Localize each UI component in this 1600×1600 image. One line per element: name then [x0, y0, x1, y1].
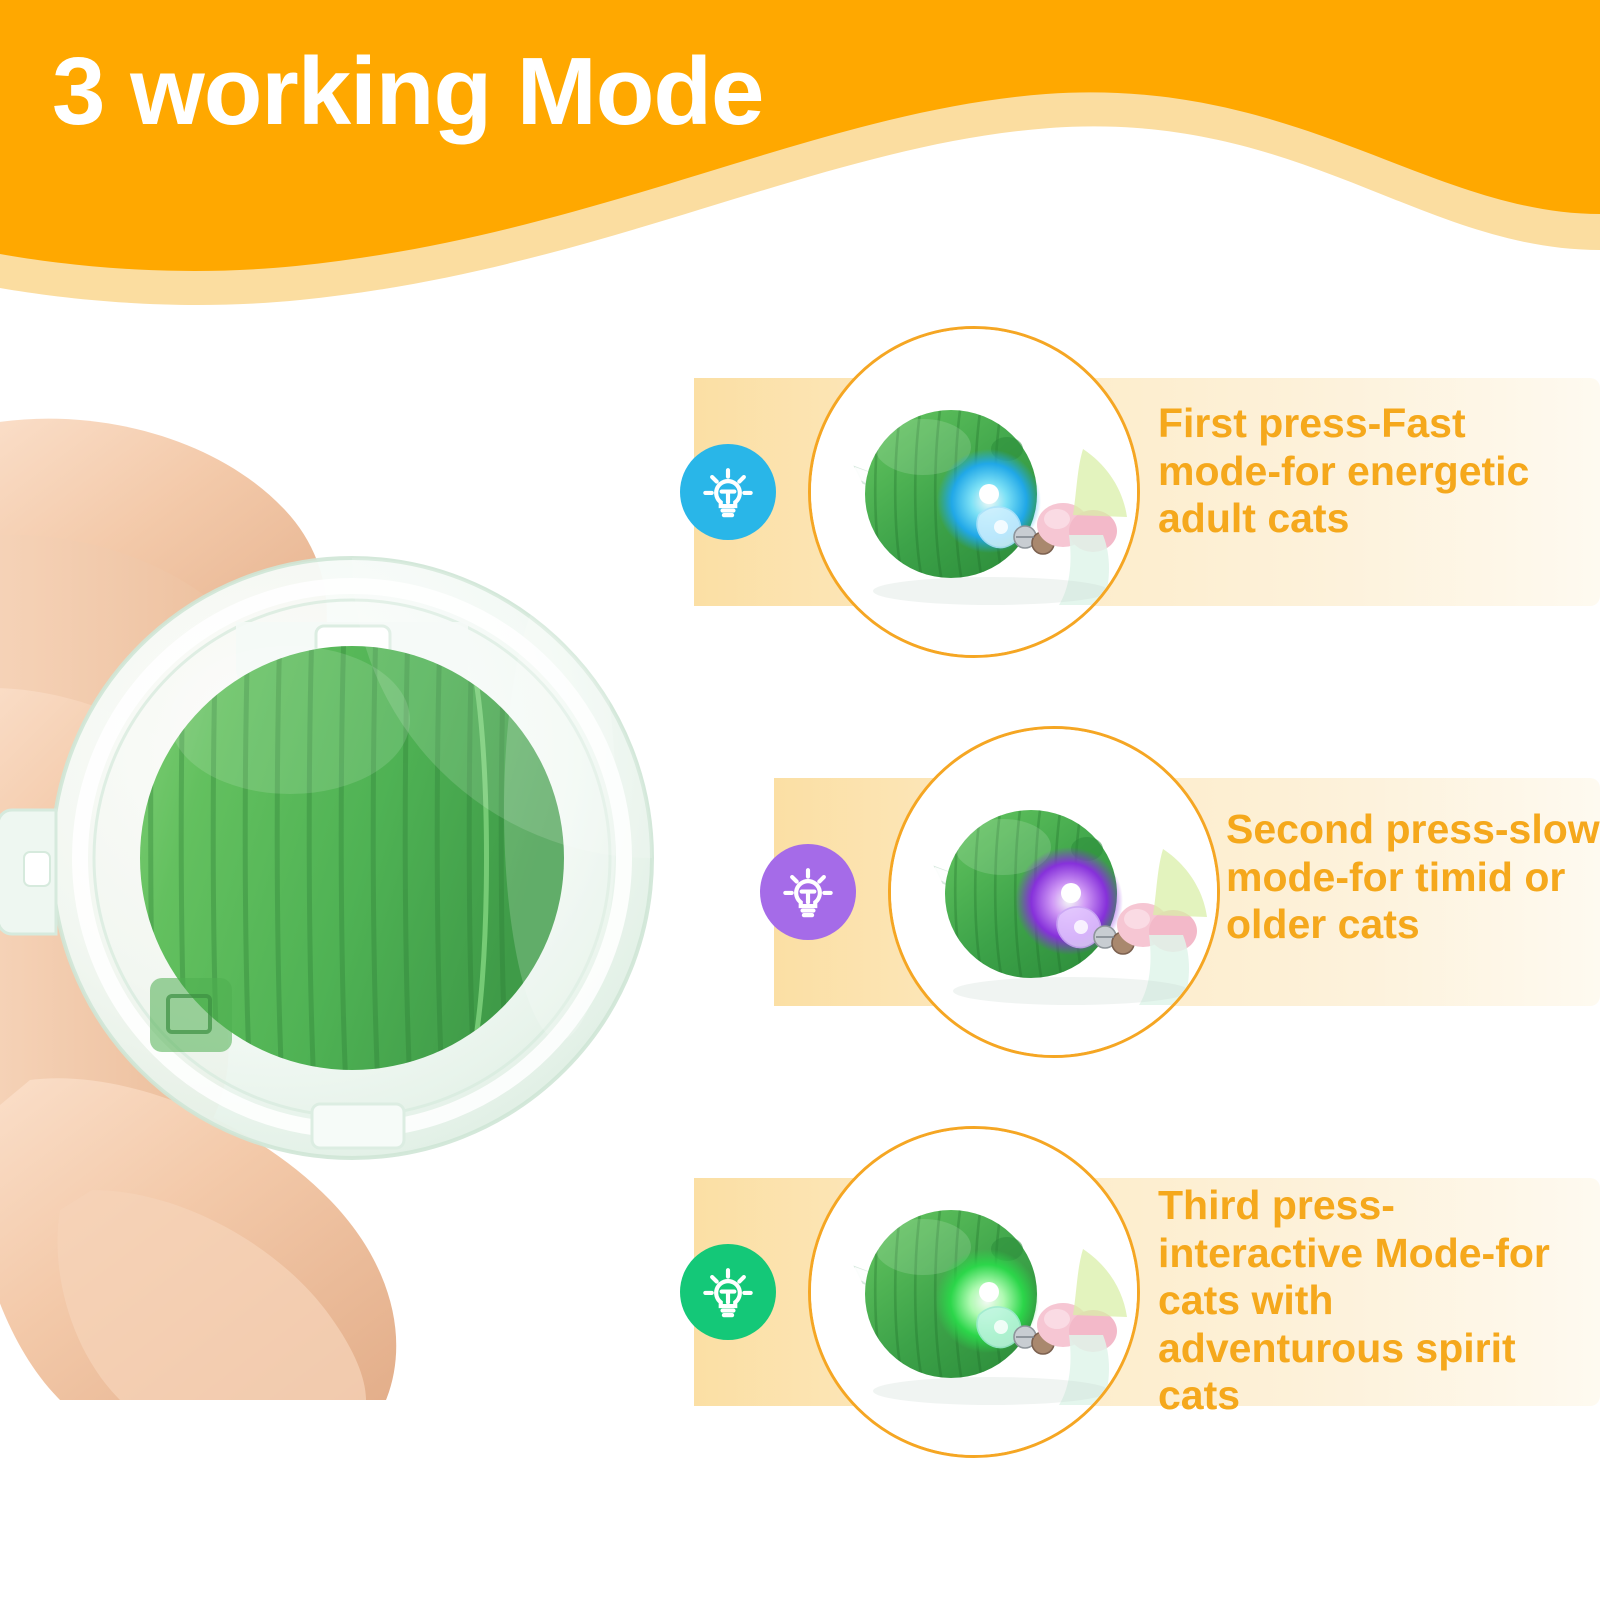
- lightbulb-icon[interactable]: [760, 844, 856, 940]
- mode-product-photo: [888, 726, 1220, 1058]
- mode-row-second-press: Second press-slow mode-for timid or olde…: [756, 722, 1600, 1062]
- mode-product-photo: [808, 326, 1140, 658]
- mode-row-third-press: Third press-interactive Mode-for cats wi…: [676, 1122, 1600, 1462]
- mode-caption: First press-Fast mode-for energetic adul…: [1158, 400, 1588, 543]
- mode-caption: Third press-interactive Mode-for cats wi…: [1158, 1182, 1588, 1420]
- mode-row-first-press: First press-Fast mode-for energetic adul…: [676, 322, 1600, 662]
- lightbulb-icon[interactable]: [680, 1244, 776, 1340]
- page-title: 3 working Mode: [52, 44, 763, 140]
- infographic-page: 3 working Mode: [0, 0, 1600, 1600]
- hero-product-photo: [0, 390, 740, 1400]
- mode-product-photo: [808, 1126, 1140, 1458]
- lightbulb-icon[interactable]: [680, 444, 776, 540]
- mode-caption: Second press-slow mode-for timid or olde…: [1226, 806, 1600, 949]
